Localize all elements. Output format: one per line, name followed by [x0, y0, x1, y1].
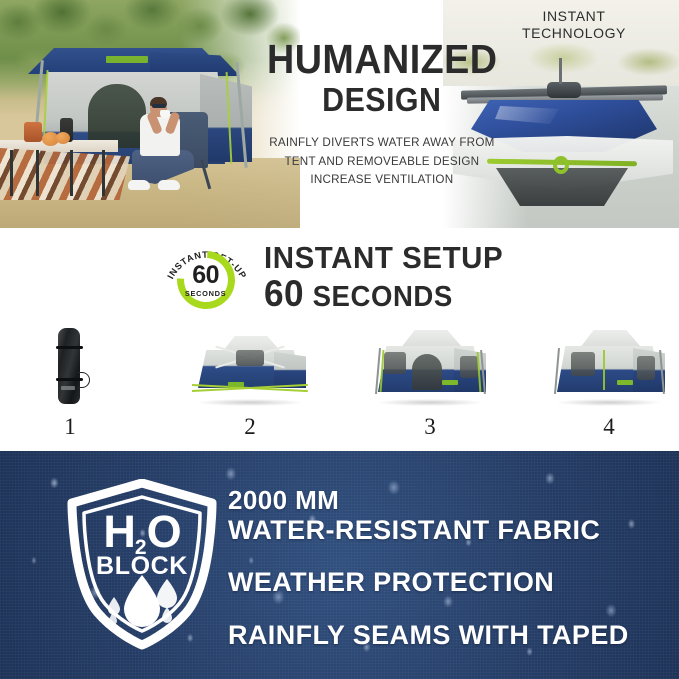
- badge-number: 60: [192, 263, 219, 287]
- setup-title-line2: 60 SECONDS: [264, 275, 503, 312]
- partial-shadow: [378, 399, 482, 406]
- badge-inner-text: 60 SECONDS: [177, 251, 235, 309]
- tent-frame-figure: [188, 326, 312, 408]
- person-shoe-right: [158, 180, 180, 190]
- table-legs: [6, 150, 116, 196]
- hero-text-block: HUMANIZED DESIGN RAINFLY DIVERTS WATER A…: [232, 0, 532, 228]
- h2o-letter-h: H: [103, 511, 135, 552]
- setup-step-4: 4: [539, 320, 679, 442]
- tent-door-opening: [88, 84, 146, 148]
- frame-side-panel: [274, 352, 306, 388]
- water-line-1: 2000 MM: [228, 485, 668, 515]
- frame-brand-logo: [228, 382, 244, 387]
- hub-hook: [559, 58, 562, 84]
- pumpkin-right: [56, 132, 70, 144]
- partial-window-left: [384, 352, 406, 374]
- frame-mesh-panel: [236, 350, 264, 366]
- water-line-2: WATER-RESISTANT FABRIC: [228, 515, 668, 546]
- setup-steps-row: 1 2: [0, 320, 679, 442]
- setup-title-number: 60: [264, 275, 304, 312]
- partial-door-open: [412, 354, 442, 390]
- bag-strap-top: [56, 346, 83, 349]
- setup-step-3: 3: [360, 320, 500, 442]
- complete-window-left: [571, 352, 595, 376]
- tent-partial-figure: [368, 326, 492, 408]
- h2o-letter-o: O: [147, 511, 181, 552]
- hero-subtitle-line2: TENT AND REMOVEABLE DESIGN: [269, 152, 494, 171]
- setup-step-2: 2: [180, 320, 320, 442]
- person-sunglasses: [152, 104, 166, 108]
- hero-subtitle: RAINFLY DIVERTS WATER AWAY FROM TENT AND…: [269, 133, 494, 190]
- instant-setup-badge: INSTANT SET-UP 60 SECONDS: [164, 239, 250, 315]
- instant-technology-label: INSTANT TECHNOLOGY: [499, 8, 649, 41]
- shield-label-group: H 2 O BLOCK: [66, 511, 218, 579]
- water-line-3: WEATHER PROTECTION: [228, 567, 668, 598]
- partial-window-right: [460, 356, 478, 378]
- orange-cooler: [24, 122, 42, 142]
- setup-title-group: INSTANT SETUP 60 SECONDS: [264, 242, 516, 313]
- setup-step-1: 1: [0, 320, 140, 442]
- bag-handle: [78, 372, 90, 388]
- step-number-3: 3: [424, 415, 436, 438]
- instant-setup-panel: INSTANT SET-UP 60 SECONDS INSTANT SETUP …: [0, 228, 679, 451]
- step-number-2: 2: [244, 415, 256, 438]
- partial-brand-logo: [442, 380, 458, 385]
- water-line-4: RAINFLY SEAMS WITH TAPED: [228, 620, 668, 651]
- complete-brand-logo: [617, 380, 633, 385]
- person-shoe-left: [128, 180, 150, 190]
- setup-title-unit: SECONDS: [312, 283, 452, 312]
- h2o-block-shield-badge: H 2 O BLOCK: [66, 479, 218, 651]
- badge-unit: SECONDS: [185, 289, 226, 298]
- water-feature-list: 2000 MM WATER-RESISTANT FABRIC WEATHER P…: [228, 485, 668, 651]
- coffee-cup: [160, 110, 170, 118]
- water-resistant-panel: H 2 O BLOCK 2000 MM WATER-RESISTANT FABR…: [0, 451, 679, 679]
- complete-window-right: [637, 356, 655, 380]
- setup-title-line1: INSTANT SETUP: [264, 242, 503, 274]
- tent-complete-figure: [547, 326, 671, 408]
- carry-bag-illustration: [0, 320, 140, 412]
- complete-shadow: [557, 399, 661, 406]
- h2o-subscript-2: 2: [135, 537, 147, 558]
- hero-subtitle-line3: INCREASE VENTILATION: [269, 170, 494, 189]
- tent-complete-illustration: [539, 320, 679, 412]
- tent-frame-illustration: [180, 320, 320, 412]
- tent-partial-illustration: [360, 320, 500, 412]
- humanized-design-panel: INSTANT TECHNOLOGY HUMANIZED DESIGN RAIN…: [0, 0, 679, 228]
- hero-subtitle-line1: RAINFLY DIVERTS WATER AWAY FROM: [269, 133, 494, 152]
- h2o-row: H 2 O: [66, 511, 218, 552]
- hero-title-line2: DESIGN: [322, 81, 441, 120]
- step-number-1: 1: [64, 415, 76, 438]
- tent-carry-bag: [58, 328, 80, 404]
- hero-title-line1: HUMANIZED: [267, 39, 497, 79]
- instant-technology-line1: INSTANT: [499, 8, 649, 25]
- water-droplet-icon: [124, 575, 160, 627]
- tent-brand-logo: [106, 56, 148, 63]
- frame-shadow: [198, 399, 302, 406]
- instant-technology-line2: TECHNOLOGY: [499, 25, 649, 42]
- step-number-4: 4: [603, 415, 615, 438]
- green-pole-connector: [553, 156, 569, 174]
- hub-center-joint: [547, 82, 581, 98]
- setup-header: INSTANT SET-UP 60 SECONDS INSTANT SETUP …: [0, 236, 679, 318]
- complete-door-zip: [603, 350, 605, 390]
- bag-logo: [61, 386, 75, 390]
